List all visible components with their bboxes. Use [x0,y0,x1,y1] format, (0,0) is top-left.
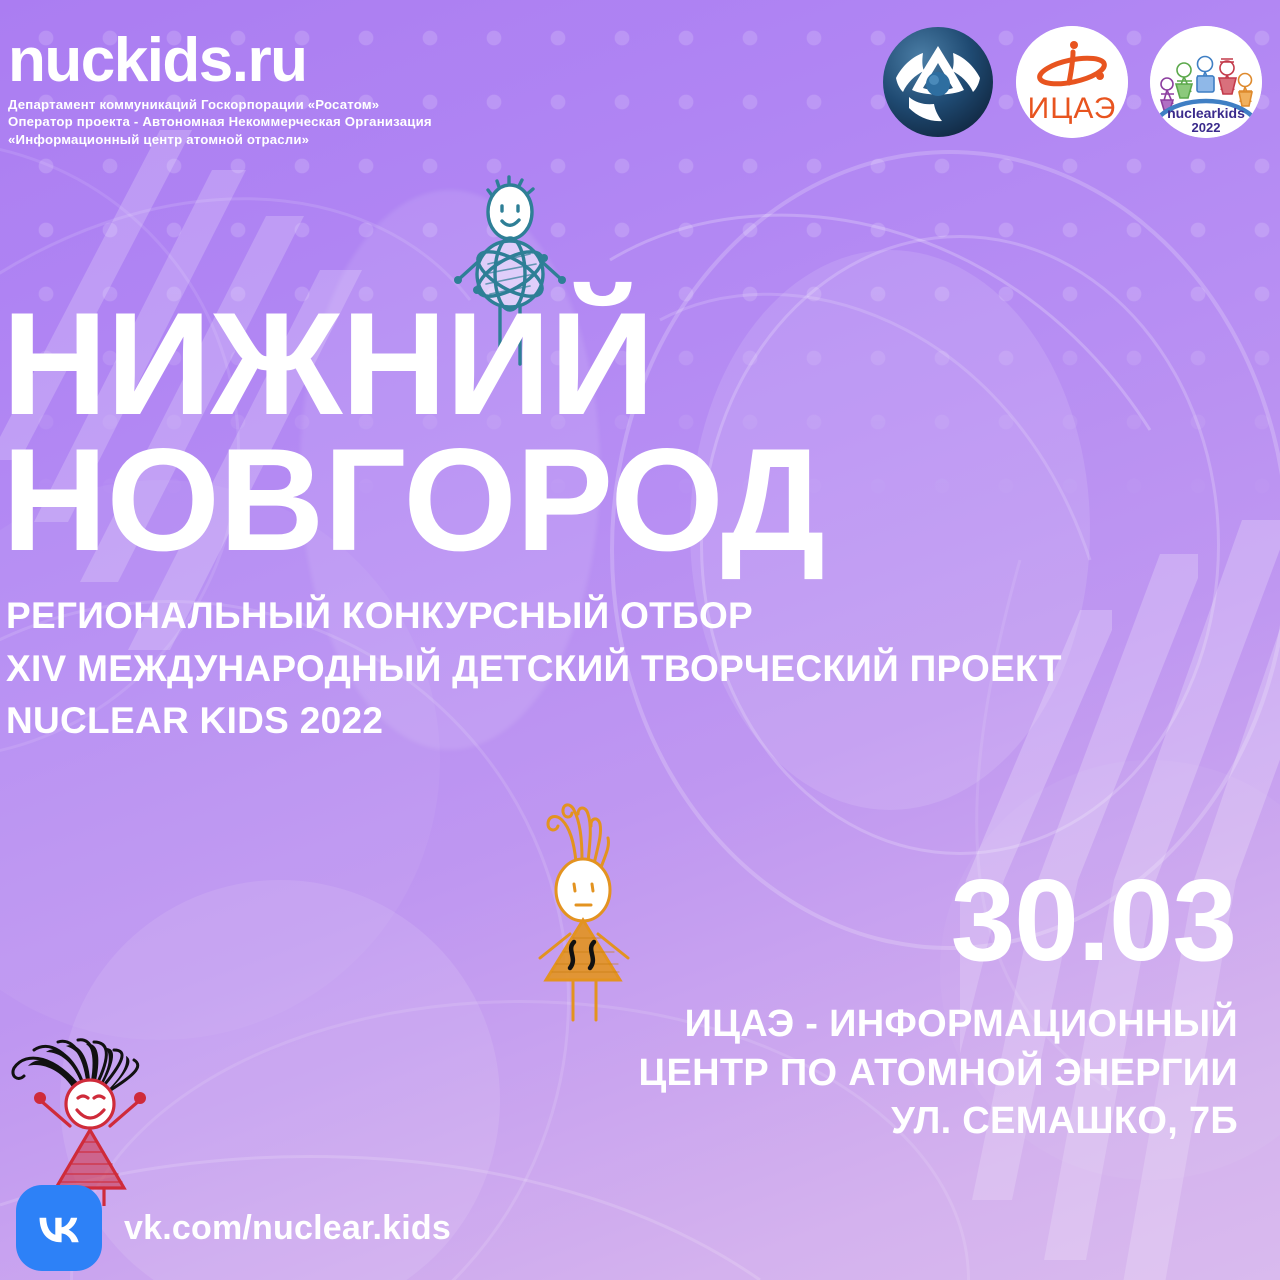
brand-line-3: «Информационный центр атомной отрасли» [8,131,432,148]
vk-url-text[interactable]: vk.com/nuclear.kids [124,1209,451,1248]
nuclearkids-wordmark: nuclearkids [1167,105,1245,121]
vk-glyph-icon [27,1196,91,1260]
girl-character-icon [518,792,648,1024]
page-title: НИЖНИЙ НОВГОРОД [2,296,1002,568]
venue-line-2: ЦЕНТР ПО АТОМНОЙ ЭНЕРГИИ [638,1049,1238,1098]
venue-line-1: ИЦАЭ - ИНФОРМАЦИОННЫЙ [638,1000,1238,1049]
vk-icon[interactable] [16,1185,102,1271]
subtitle-block: РЕГИОНАЛЬНЫЙ КОНКУРСНЫЙ ОТБОР XIV МЕЖДУН… [6,590,1246,748]
site-title: nuckids.ru [8,30,432,92]
subtitle-line-3: NUCLEAR KIDS 2022 [6,695,1246,748]
icae-logo: ИЦАЭ [1016,26,1128,138]
rosatom-atom-icon [882,26,994,138]
nuclearkids-logo: nuclearkids 2022 [1150,26,1262,138]
nuclearkids-children-icon: nuclearkids 2022 [1150,26,1262,138]
event-poster: nuckids.ru Департамент коммуникаций Госк… [0,0,1280,1280]
city-line-1: НИЖНИЙ [2,296,1002,432]
nuclearkids-year: 2022 [1192,120,1221,135]
icae-swoosh-icon: ИЦАЭ [1016,26,1128,138]
subtitle-line-1: РЕГИОНАЛЬНЫЙ КОНКУРСНЫЙ ОТБОР [6,590,1246,643]
brand-block: nuckids.ru Департамент коммуникаций Госк… [8,30,432,148]
poster-header: nuckids.ru Департамент коммуникаций Госк… [0,0,1280,160]
brand-line-2: Оператор проекта - Автономная Некоммерче… [8,113,432,130]
brand-subtext: Департамент коммуникаций Госкорпорации «… [8,96,432,148]
social-link-row[interactable]: vk.com/nuclear.kids [16,1185,451,1271]
red-girl-character-icon [4,1036,164,1206]
subtitle-line-2: XIV МЕЖДУНАРОДНЫЙ ДЕТСКИЙ ТВОРЧЕСКИЙ ПРО… [6,643,1246,696]
logo-row: ИЦАЭ [882,26,1262,138]
venue-line-3: УЛ. СЕМАШКО, 7Б [638,1097,1238,1146]
rosatom-logo [882,26,994,138]
city-line-2: НОВГОРОД [2,432,1002,568]
svg-text:ИЦАЭ: ИЦАЭ [1028,92,1117,125]
brand-line-1: Департамент коммуникаций Госкорпорации «… [8,96,432,113]
event-venue: ИЦАЭ - ИНФОРМАЦИОННЫЙ ЦЕНТР ПО АТОМНОЙ Э… [638,1000,1238,1146]
event-date: 30.03 [951,862,1236,978]
